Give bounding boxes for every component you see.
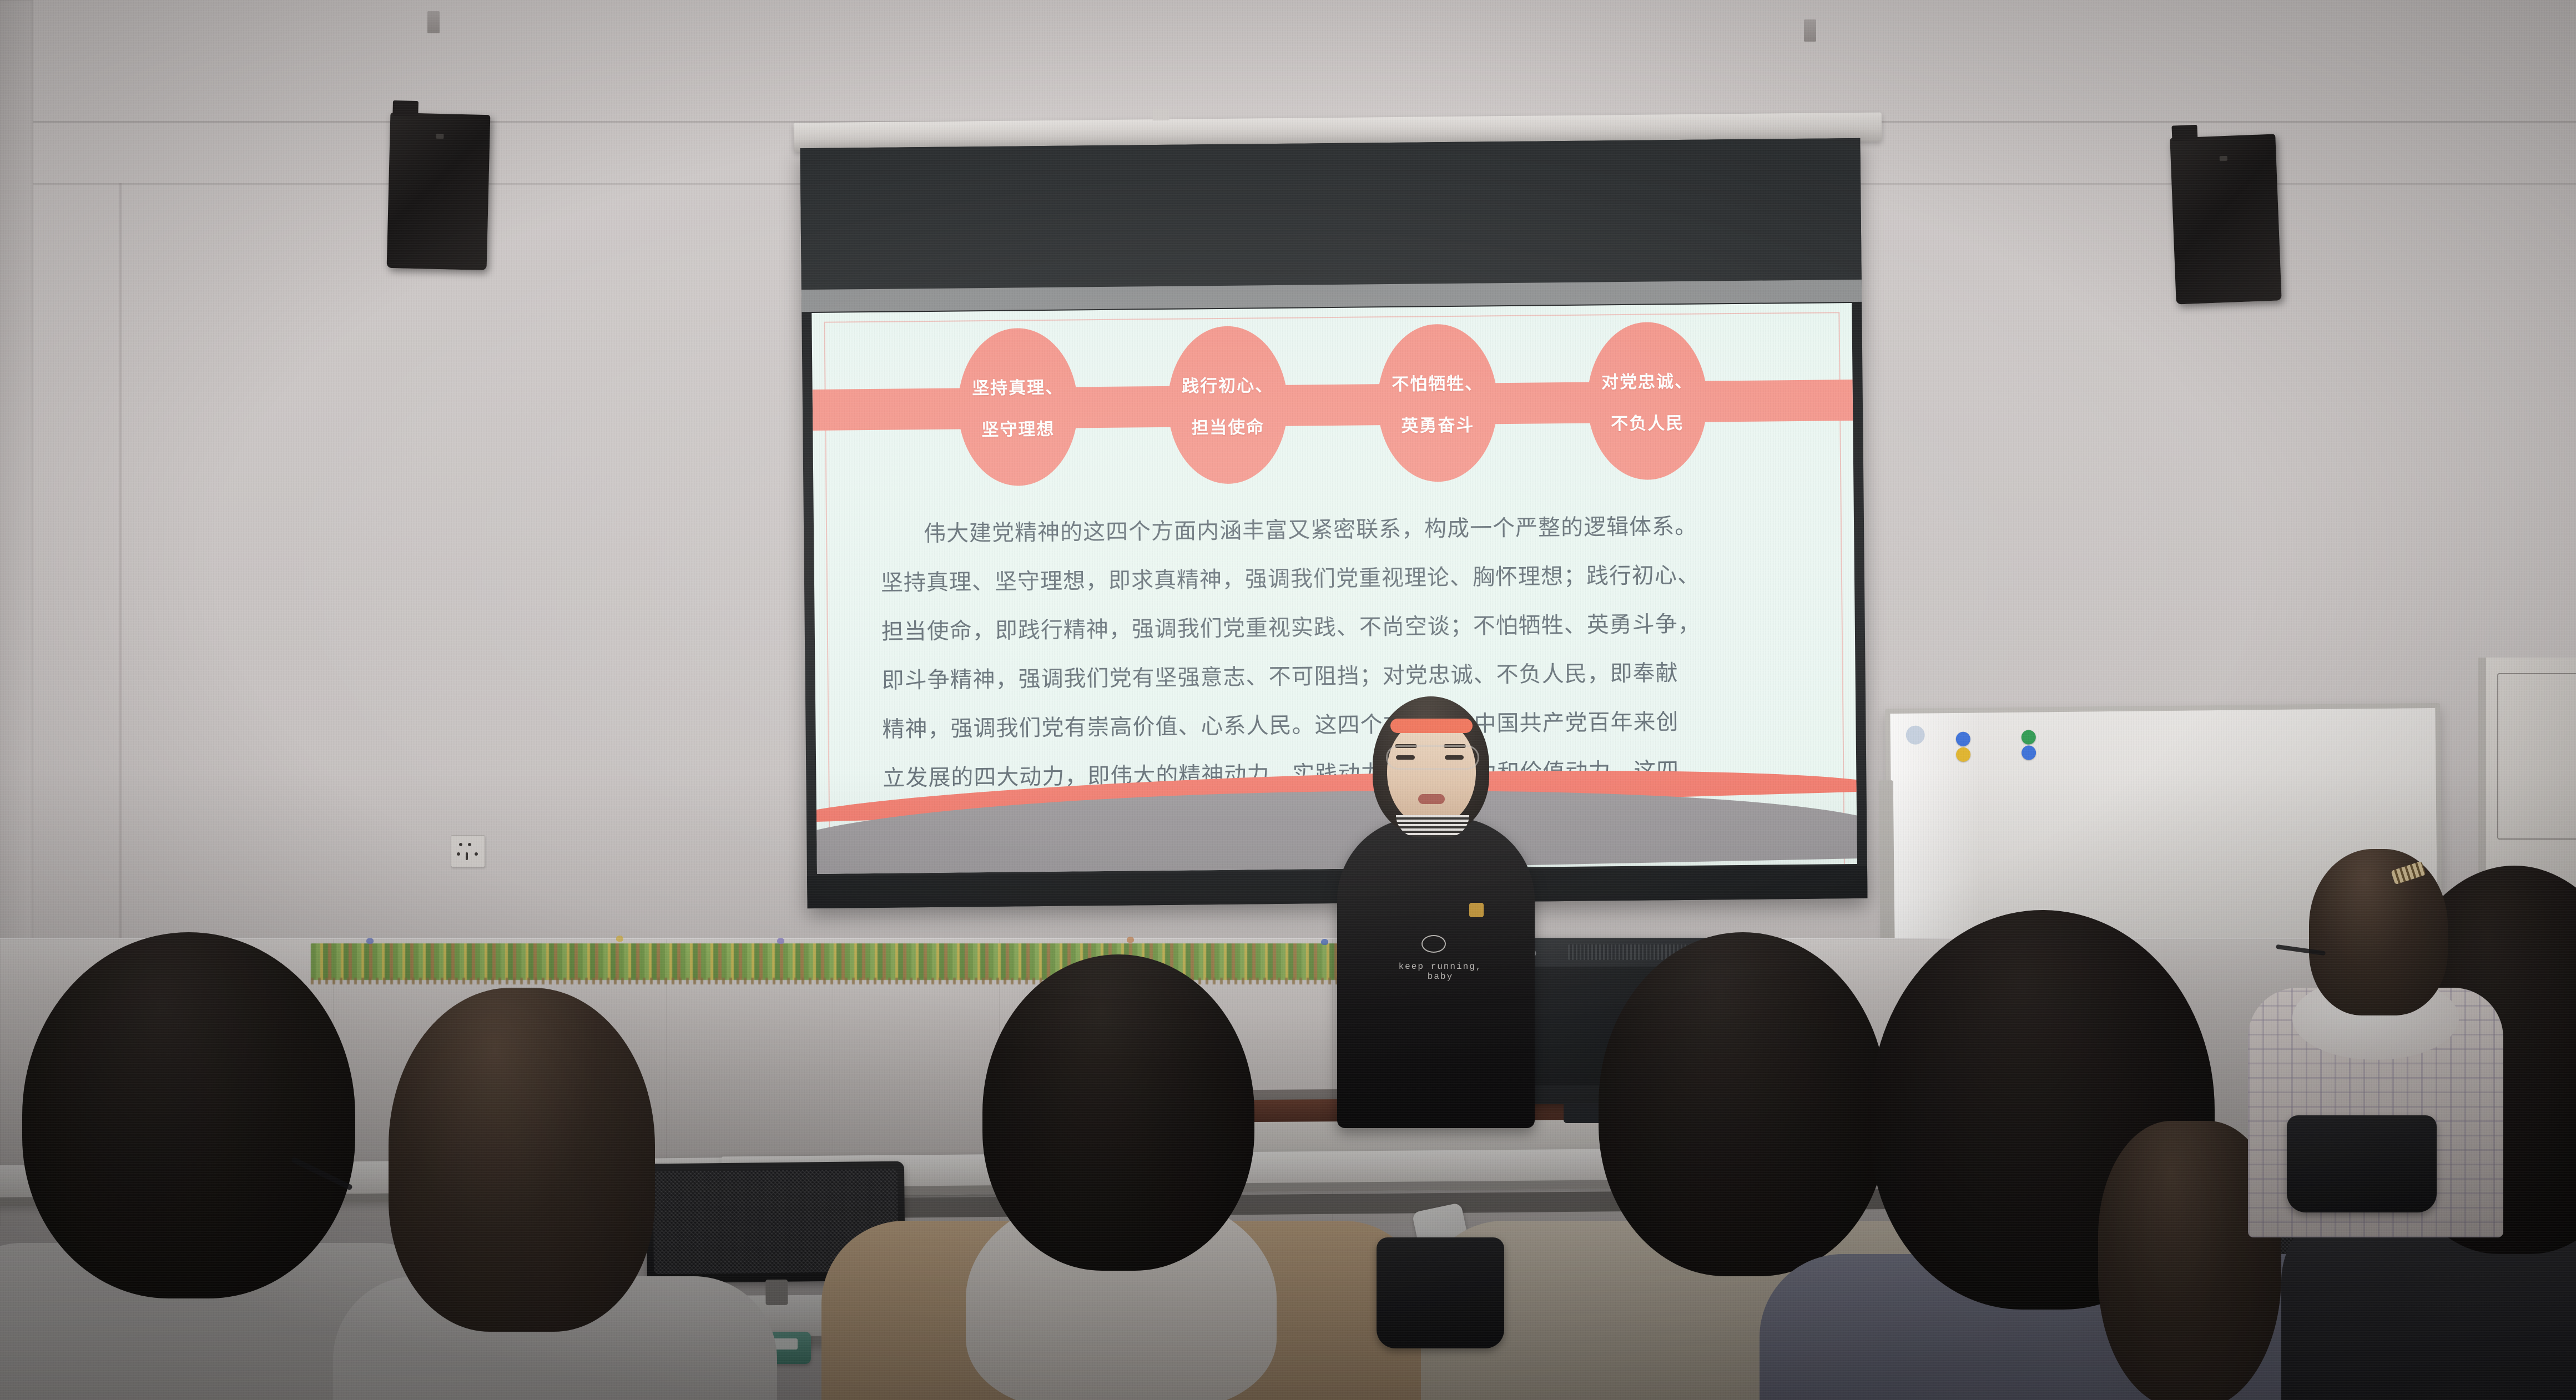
slide-circle-4: 对党忠诚、 不负人民 [1587, 322, 1708, 481]
wall-pillar-left [0, 0, 33, 977]
slide-circle-1: 坚持真理、 坚守理想 [957, 327, 1079, 486]
slide-circle-row: 坚持真理、 坚守理想 践行初心、 担当使命 不怕牺牲、 英勇奋斗 对党忠诚、 不… [812, 319, 1854, 489]
presenter-headband [1390, 719, 1473, 733]
presenter-eye-right [1445, 755, 1464, 760]
ceiling-bracket-left [427, 11, 440, 33]
speaker-led-left [436, 134, 443, 139]
circle-1-line1: 坚持真理、 [972, 373, 1063, 400]
slide-circle-2: 践行初心、 担当使命 [1167, 326, 1289, 484]
circle-4-line1: 对党忠诚、 [1601, 367, 1693, 393]
circle-1-line2: 坚守理想 [981, 415, 1055, 441]
chair-post [765, 1280, 788, 1305]
slide-body-line-2: 坚持真理、坚守理想，即求真精神，强调我们党重视理论、胸怀理想；践行初心、 [881, 550, 1805, 608]
circle-3-line1: 不怕牺牲、 [1392, 369, 1483, 395]
speaker-bracket-right [2171, 125, 2197, 141]
student-head [982, 954, 1254, 1271]
slide-body-line-1: 伟大建党精神的这四个方面内涵丰富又紧密联系，构成一个严整的逻辑体系。 [880, 501, 1804, 559]
circle-2-line1: 践行初心、 [1182, 371, 1273, 397]
slide-circle-3: 不怕牺牲、 英勇奋斗 [1377, 324, 1499, 482]
butterfly-decal-3 [777, 938, 784, 944]
presenter-mouth [1418, 794, 1445, 804]
magnet-green[interactable] [2022, 730, 2036, 744]
cabinet-panel [2497, 673, 2576, 840]
magnet-yellow[interactable] [1956, 747, 1970, 762]
screen-dark-band [800, 138, 1861, 290]
wall-speaker-right [2170, 134, 2281, 304]
power-outlet [451, 835, 485, 867]
circle-3-line2: 英勇奋斗 [1401, 411, 1474, 437]
butterfly-decal-5 [1321, 939, 1328, 945]
student-tan-hoodie [844, 954, 1399, 1400]
student-hair [2309, 849, 2448, 1015]
presenter-collar [1396, 815, 1469, 837]
circle-4-line2: 不负人民 [1611, 409, 1684, 434]
backpack-center[interactable] [1377, 1237, 1504, 1348]
presenter-face [1387, 719, 1476, 827]
student-long-hair [355, 988, 755, 1400]
student-head [22, 932, 355, 1298]
presenter-eye-left [1396, 755, 1415, 760]
classroom-photo: 坚持真理、 坚守理想 践行初心、 担当使命 不怕牺牲、 英勇奋斗 对党忠诚、 不… [0, 0, 2576, 1400]
handbag[interactable] [2287, 1115, 2437, 1212]
circle-2-line2: 担当使命 [1191, 413, 1264, 438]
butterfly-decal-2 [616, 936, 623, 942]
ceiling-bracket-right [1804, 19, 1816, 42]
speaker-bracket-left [392, 100, 419, 117]
butterfly-decal-4 [1127, 937, 1134, 943]
magnet-blue-1[interactable] [1956, 732, 1970, 746]
slide-body-line-3: 担当使命，即践行精神，强调我们党重视实践、不尚空谈；不怕牺牲、英勇斗争， [881, 599, 1805, 656]
magnet-blue-2[interactable] [2022, 745, 2036, 760]
presenter-badge-icon [1469, 903, 1484, 917]
speaker-led-right [2220, 156, 2227, 161]
wall-speaker-left [387, 113, 491, 270]
student-hair [389, 988, 655, 1332]
screen-housing-tab [1152, 109, 1169, 120]
wall-pillar-seam [119, 183, 122, 949]
whiteboard-logo [1906, 726, 1925, 745]
